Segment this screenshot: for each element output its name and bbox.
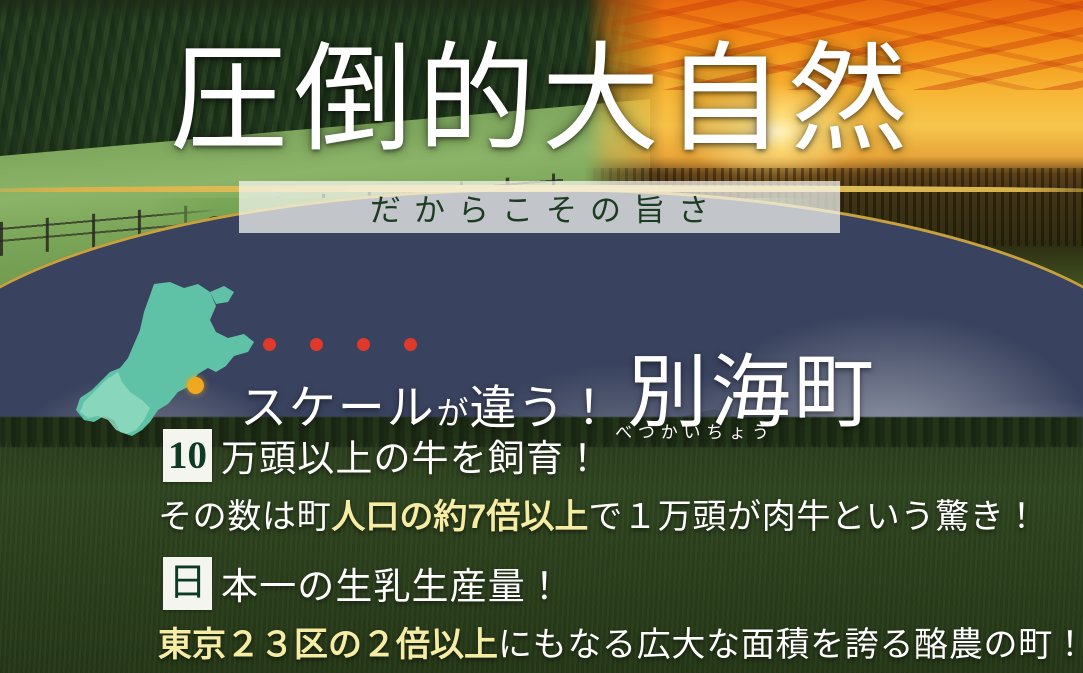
fact-sub-post: にもなる広大な面積を誇る酪農の町！ xyxy=(498,627,1083,664)
cow-silhouette xyxy=(541,243,575,257)
subtitle-text: だからこその旨さ xyxy=(239,181,840,233)
town-lead-scale: スケール xyxy=(240,386,436,433)
cow-silhouette xyxy=(447,255,471,275)
promo-banner: 圧倒的大自然 だからこその旨さ スケール が 違う！ 別海町 べつかいちょう 1… xyxy=(0,0,1083,673)
fact-sub-row: 東京２３区の２倍以上にもなる広大な面積を誇る酪農の町！ xyxy=(0,617,1083,666)
fact-sub-highlight: 東京２３区の２倍以上 xyxy=(158,626,498,664)
fact-badge: 10 xyxy=(163,429,212,482)
cow-silhouette xyxy=(581,265,603,277)
fact-item: 10 万頭以上の牛を飼育！ その数は町人口の約7倍以上で１万頭が肉牛という驚き！ xyxy=(0,428,1083,538)
fact-sub-post: で１万頭が肉牛という驚き！ xyxy=(588,499,1039,536)
fact-head-text: 本一の生乳生産量！ xyxy=(221,556,564,610)
subtitle-band: だからこその旨さ xyxy=(239,181,840,233)
fact-sub-row: その数は町人口の約7倍以上で１万頭が肉牛という驚き！ xyxy=(0,489,1083,538)
page-title: 圧倒的大自然 xyxy=(0,42,1083,160)
fact-head-row: 日 本一の生乳生産量！ xyxy=(0,556,1083,610)
cow-silhouette xyxy=(205,216,235,229)
fact-list: 10 万頭以上の牛を飼育！ その数は町人口の約7倍以上で１万頭が肉牛という驚き！… xyxy=(0,428,1083,673)
fact-sub-highlight: 人口の約7倍以上 xyxy=(331,498,588,536)
cow-silhouette xyxy=(407,245,437,260)
fact-badge: 日 xyxy=(163,557,212,610)
fact-sub-pre: その数は町 xyxy=(158,499,331,536)
fact-head-row: 10 万頭以上の牛を飼育！ xyxy=(0,428,1083,482)
map-marker-betsukai-icon xyxy=(187,377,204,394)
fact-head-text: 万頭以上の牛を飼育！ xyxy=(221,428,602,482)
fact-item: 日 本一の生乳生産量！ 東京２３区の２倍以上にもなる広大な面積を誇る酪農の町！ xyxy=(0,556,1083,666)
cow-silhouette xyxy=(608,233,634,248)
